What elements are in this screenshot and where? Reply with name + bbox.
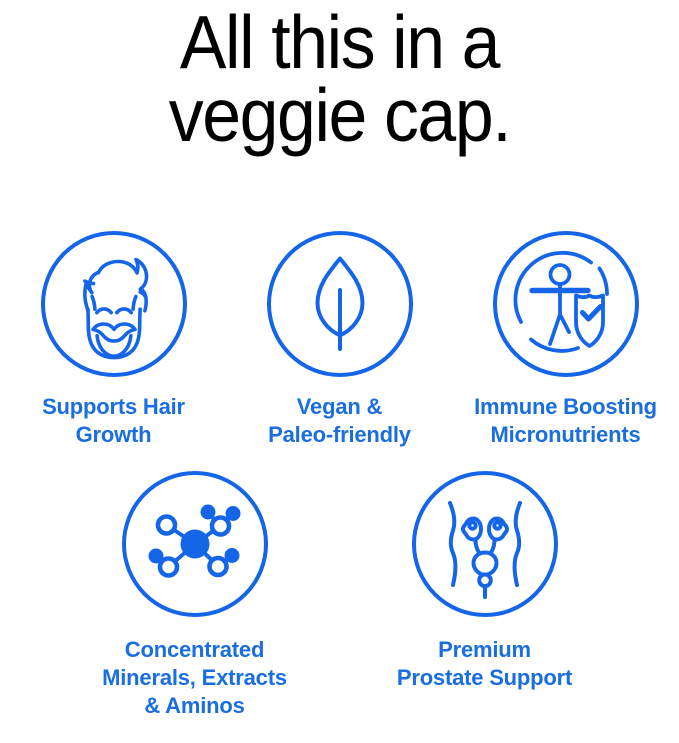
page-title-line-2: veggie cap. [24, 79, 655, 152]
feature-label: Supports Hair Growth [42, 393, 185, 448]
feature-label: Immune Boosting Micronutrients [474, 393, 657, 448]
feature-premium-prostate-support: Premium Prostate Support [340, 468, 630, 719]
feature-grid: Supports Hair Growth Vegan & Pa [0, 228, 679, 720]
product-benefits-panel: All this in a veggie cap. [0, 0, 679, 743]
bearded-face-hair-icon [38, 228, 190, 380]
kidney-bladder-prostate-icon [409, 468, 561, 620]
feature-label: Vegan & Paleo-friendly [268, 393, 411, 448]
feature-row-top: Supports Hair Growth Vegan & Pa [0, 228, 679, 448]
feature-row-bottom: Concentrated Minerals, Extracts & Aminos [0, 468, 679, 719]
feature-supports-hair-growth: Supports Hair Growth [1, 228, 227, 448]
person-shield-check-icon [490, 228, 642, 380]
feature-label: Concentrated Minerals, Extracts & Aminos [102, 636, 287, 719]
feature-concentrated-minerals-extracts-aminos: Concentrated Minerals, Extracts & Aminos [50, 468, 340, 719]
feature-immune-boosting-micronutrients: Immune Boosting Micronutrients [453, 228, 679, 448]
feature-label: Premium Prostate Support [397, 636, 572, 691]
feature-vegan-paleo-friendly: Vegan & Paleo-friendly [227, 228, 453, 448]
molecule-network-icon [119, 468, 271, 620]
page-title-line-1: All this in a [24, 6, 655, 79]
page-title: All this in a veggie cap. [24, 0, 655, 152]
leaf-icon [264, 228, 416, 380]
